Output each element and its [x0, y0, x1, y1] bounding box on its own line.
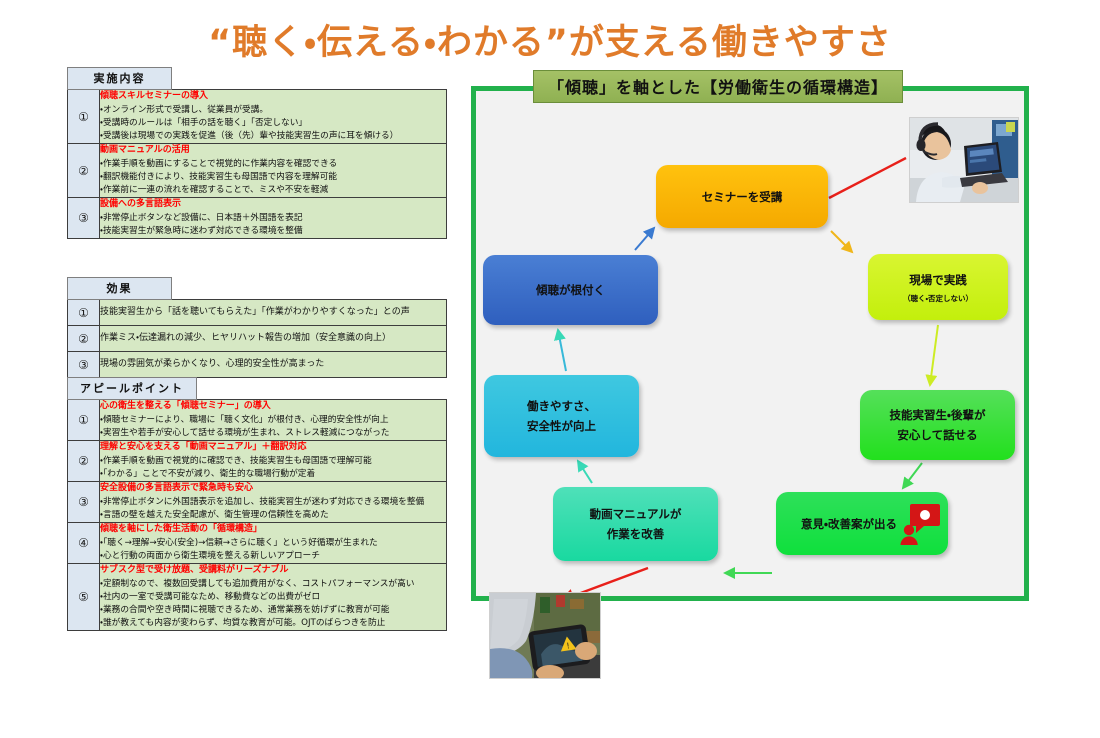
section-header-jisshi-naiyou: 実施内容: [67, 67, 172, 90]
row-heading: 理解と安心を支える「動画マニュアル」＋翻訳対応: [100, 441, 446, 454]
photo-tablet-video-manual: !: [489, 592, 601, 679]
node-opinions-emerge: 意見・改善案が出る: [776, 492, 948, 555]
row-number: ③: [68, 198, 100, 239]
row-bullet: ・傾聴セミナーにより、職場に「聴く文化」が根付き、心理的安全性が向上: [100, 414, 446, 427]
section-header-appeal-point: アピールポイント: [67, 377, 197, 400]
row-number: ②: [68, 144, 100, 198]
node-label: 現場で実践: [909, 270, 967, 290]
row-bullet: ・オンライン形式で受講し、従業員が受講。: [100, 104, 446, 117]
row-heading: 傾聴を軸にした衛生活動の「循環構造」: [100, 523, 446, 536]
row-text: 作業ミス・伝達漏れの減少、ヒヤリハット報告の増加（安全意識の向上）: [100, 326, 447, 352]
row-number: ②: [68, 326, 100, 352]
node-trainees-can-talk: 技能実習生・後輩が 安心して話せる: [860, 390, 1015, 460]
table-jisshi-naiyou: ① 傾聴スキルセミナーの導入 ・オンライン形式で受講し、従業員が受講。 ・受講時…: [67, 89, 447, 239]
table-row: ② 動画マニュアルの活用 ・作業手順を動画にすることで視覚的に作業内容を確認でき…: [68, 144, 447, 198]
node-label: セミナーを受講: [702, 187, 783, 207]
node-label: 技能実習生・後輩が: [890, 405, 986, 425]
row-bullet: ・誰が教えても内容が変わらず、均質な教育が可能。OJTのばらつきを防止: [100, 617, 446, 630]
row-body: 動画マニュアルの活用 ・作業手順を動画にすることで視覚的に作業内容を確認できる …: [100, 144, 447, 198]
row-text: 技能実習生から「話を聴いてもらえた」「作業がわかりやすくなった」との声: [100, 300, 447, 326]
table-row: ③ 安全設備の多言語表示で緊急時も安心 ・非常停止ボタンに外国語表示を追加し、技…: [68, 482, 447, 523]
table-row: ④ 傾聴を軸にした衛生活動の「循環構造」 ・「聴く→理解→安心(安全)→信頼→さ…: [68, 523, 447, 564]
table-row: ③ 設備への多言語表示 ・非常停止ボタンなど設備に、日本語＋外国語を表記 ・技能…: [68, 198, 447, 239]
row-number: ④: [68, 523, 100, 564]
node-easier-safer-work: 働きやすさ、 安全性が向上: [484, 375, 639, 457]
node-label: 作業を改善: [607, 524, 665, 544]
node-sublabel: （聴く・否定しない）: [903, 293, 973, 305]
node-listening-takes-root: 傾聴が根付く: [483, 255, 658, 325]
table-row: ② 理解と安心を支える「動画マニュアル」＋翻訳対応 ・作業手順を動画で視覚的に確…: [68, 441, 447, 482]
section-jisshi-naiyou: 実施内容 ① 傾聴スキルセミナーの導入 ・オンライン形式で受講し、従業員が受講。…: [67, 67, 447, 239]
row-body: サブスク型で受け放題、受講料がリーズナブル ・定額制なので、複数回受講しても追加…: [100, 564, 447, 631]
row-bullet: ・技能実習生が緊急時に迷わず対応できる環境を整備: [100, 225, 446, 238]
row-body: 傾聴を軸にした衛生活動の「循環構造」 ・「聴く→理解→安心(安全)→信頼→さらに…: [100, 523, 447, 564]
row-heading: サブスク型で受け放題、受講料がリーズナブル: [100, 564, 446, 577]
row-heading: 動画マニュアルの活用: [100, 144, 446, 157]
section-appeal-point: アピールポイント ① 心の衛生を整える「傾聴セミナー」の導入 ・傾聴セミナーによ…: [67, 377, 447, 631]
table-kouka: ① 技能実習生から「話を聴いてもらえた」「作業がわかりやすくなった」との声 ② …: [67, 299, 447, 378]
row-number: ①: [68, 90, 100, 144]
section-kouka: 効果 ① 技能実習生から「話を聴いてもらえた」「作業がわかりやすくなった」との声…: [67, 277, 447, 378]
row-body: 心の衛生を整える「傾聴セミナー」の導入 ・傾聴セミナーにより、職場に「聴く文化」…: [100, 400, 447, 441]
row-bullet: ・作業前に一連の流れを確認することで、ミスや不安を軽減: [100, 184, 446, 197]
node-label: 動画マニュアルが: [590, 504, 682, 524]
node-label: 安心して話せる: [897, 425, 977, 445]
row-bullet: ・作業手順を動画にすることで視覚的に作業内容を確認できる: [100, 158, 446, 171]
table-row: ② 作業ミス・伝達漏れの減少、ヒヤリハット報告の増加（安全意識の向上）: [68, 326, 447, 352]
table-appeal-point: ① 心の衛生を整える「傾聴セミナー」の導入 ・傾聴セミナーにより、職場に「聴く文…: [67, 399, 447, 631]
row-bullet: ・作業手順を動画で視覚的に確認でき、技能実習生も母国語で理解可能: [100, 455, 446, 468]
row-bullet: ・受講後は現場での実践を促進（後（先）輩や技能実習生の声に耳を傾ける）: [100, 130, 446, 143]
table-row: ① 傾聴スキルセミナーの導入 ・オンライン形式で受講し、従業員が受講。 ・受講時…: [68, 90, 447, 144]
row-heading: 心の衛生を整える「傾聴セミナー」の導入: [100, 400, 446, 413]
row-heading: 設備への多言語表示: [100, 198, 446, 211]
node-label: 傾聴が根付く: [536, 280, 605, 300]
row-bullet: ・翻訳機能付きにより、技能実習生も母国語で内容を理解可能: [100, 171, 446, 184]
row-body: 傾聴スキルセミナーの導入 ・オンライン形式で受講し、従業員が受講。 ・受講時のル…: [100, 90, 447, 144]
page-title: “聴く・伝える・わかる”が支える働きやすさ: [0, 14, 1100, 65]
speech-person-icon: [900, 503, 940, 545]
row-bullet: ・「わかる」ことで不安が減り、衛生的な職場行動が定着: [100, 468, 446, 481]
node-label: 安全性が向上: [527, 416, 596, 436]
row-body: 設備への多言語表示 ・非常停止ボタンなど設備に、日本語＋外国語を表記 ・技能実習…: [100, 198, 447, 239]
row-heading: 安全設備の多言語表示で緊急時も安心: [100, 482, 446, 495]
node-practice: 現場で実践 （聴く・否定しない）: [868, 254, 1008, 320]
row-bullet: ・定額制なので、複数回受講しても追加費用がなく、コストパフォーマンスが高い: [100, 578, 446, 591]
row-bullet: ・実習生や若手が安心して話せる環境が生まれ、ストレス軽減につながった: [100, 427, 446, 440]
row-bullet: ・心と行動の両面から衛生環境を整える新しいアプローチ: [100, 550, 446, 563]
node-seminar: セミナーを受講: [656, 165, 828, 228]
row-bullet: ・社内の一室で受講可能なため、移動費などの出費がゼロ: [100, 591, 446, 604]
table-row: ① 心の衛生を整える「傾聴セミナー」の導入 ・傾聴セミナーにより、職場に「聴く文…: [68, 400, 447, 441]
row-bullet: ・非常停止ボタンに外国語表示を追加し、技能実習生が迷わず対応できる環境を整備: [100, 496, 446, 509]
row-number: ①: [68, 300, 100, 326]
table-row: ⑤ サブスク型で受け放題、受講料がリーズナブル ・定額制なので、複数回受講しても…: [68, 564, 447, 631]
row-bullet: ・業務の合間や空き時間に視聴できるため、通常業務を妨げずに教育が可能: [100, 604, 446, 617]
table-row: ① 技能実習生から「話を聴いてもらえた」「作業がわかりやすくなった」との声: [68, 300, 447, 326]
row-heading: 傾聴スキルセミナーの導入: [100, 90, 446, 103]
row-number: ①: [68, 400, 100, 441]
row-text: 現場の雰囲気が柔らかくなり、心理的安全性が高まった: [100, 352, 447, 378]
section-header-kouka: 効果: [67, 277, 172, 300]
node-video-manual-improves-work: 動画マニュアルが 作業を改善: [553, 487, 718, 561]
row-bullet: ・受講時のルールは「相手の話を聴く」「否定しない」: [100, 117, 446, 130]
table-row: ③ 現場の雰囲気が柔らかくなり、心理的安全性が高まった: [68, 352, 447, 378]
row-bullet: ・言語の壁を越えた安全配慮が、衛生管理の信頼性を高めた: [100, 509, 446, 522]
row-bullet: ・非常停止ボタンなど設備に、日本語＋外国語を表記: [100, 212, 446, 225]
row-number: ⑤: [68, 564, 100, 631]
photo-online-seminar: [909, 117, 1019, 203]
node-label: 働きやすさ、: [527, 396, 596, 416]
poster-root: “聴く・伝える・わかる”が支える働きやすさ 実施内容 ① 傾聴スキルセミナーの導…: [0, 0, 1100, 738]
cycle-diagram-title: 「傾聴」を軸とした【労働衛生の循環構造】: [533, 70, 903, 103]
row-number: ②: [68, 441, 100, 482]
row-body: 理解と安心を支える「動画マニュアル」＋翻訳対応 ・作業手順を動画で視覚的に確認で…: [100, 441, 447, 482]
row-number: ③: [68, 482, 100, 523]
row-number: ③: [68, 352, 100, 378]
row-body: 安全設備の多言語表示で緊急時も安心 ・非常停止ボタンに外国語表示を追加し、技能実…: [100, 482, 447, 523]
row-bullet: ・「聴く→理解→安心(安全)→信頼→さらに聴く」という好循環が生まれた: [100, 537, 446, 550]
